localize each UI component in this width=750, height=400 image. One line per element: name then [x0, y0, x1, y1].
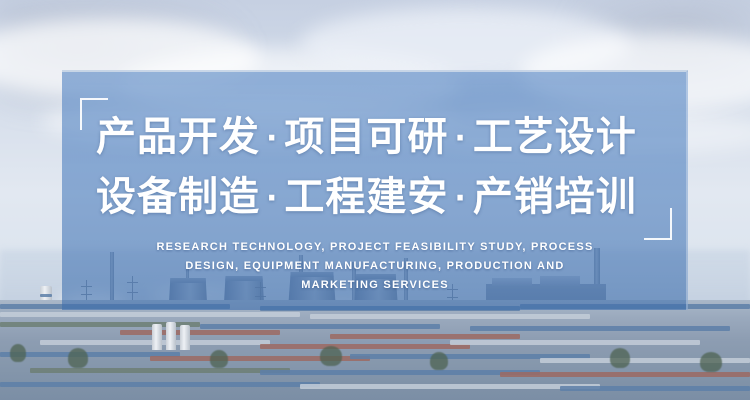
headline-line-1: 产品开发·项目可研·工艺设计	[96, 108, 656, 168]
headline-overlay-panel: 产品开发·项目可研·工艺设计 设备制造·工程建安·产销培训 RESEARCH T…	[62, 70, 688, 310]
subtitle-line-3: MARKETING SERVICES	[90, 276, 660, 295]
subtitle-line-2: DESIGN, EQUIPMENT MANUFACTURING, PRODUCT…	[90, 257, 660, 276]
headline-seg-5: 工程建安	[284, 174, 448, 220]
subtitle-line-1: RESEARCH TECHNOLOGY, PROJECT FEASIBILITY…	[90, 238, 660, 257]
headline-seg-6: 产销培训	[473, 174, 637, 220]
headline-separator: ·	[260, 121, 284, 156]
headline-separator: ·	[448, 181, 472, 216]
service-banner: 产品开发·项目可研·工艺设计 设备制造·工程建安·产销培训 RESEARCH T…	[0, 0, 750, 400]
silo-3	[180, 325, 190, 350]
foreground-industrial-zone	[0, 300, 750, 400]
headline-seg-4: 设备制造	[96, 174, 260, 220]
silo-1	[152, 324, 162, 350]
headline-line-2: 设备制造·工程建安·产销培训	[96, 168, 656, 228]
headline-separator: ·	[448, 121, 472, 156]
headline-seg-3: 工艺设计	[473, 114, 637, 160]
silo-2	[166, 322, 176, 350]
headline-seg-1: 产品开发	[96, 114, 260, 160]
tower-band-1	[40, 294, 52, 297]
headline-group: 产品开发·项目可研·工艺设计 设备制造·工程建安·产销培训	[96, 108, 656, 228]
headline-separator: ·	[260, 181, 284, 216]
headline-seg-2: 项目可研	[284, 114, 448, 160]
subtitle-group: RESEARCH TECHNOLOGY, PROJECT FEASIBILITY…	[90, 238, 660, 295]
